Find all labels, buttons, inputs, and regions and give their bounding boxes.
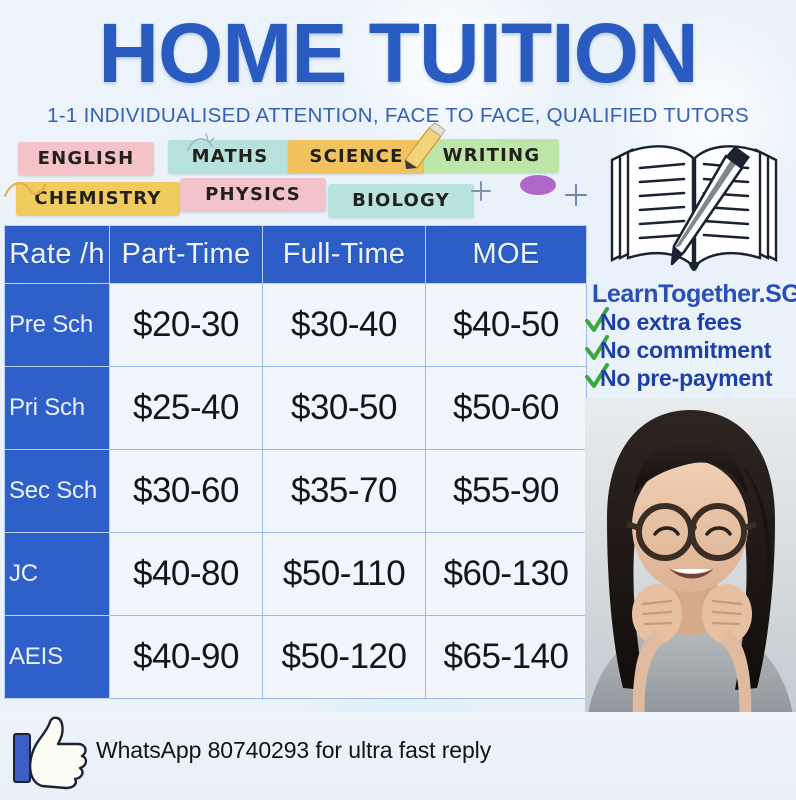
row-label-aeis: AEIS <box>5 616 110 699</box>
row-label-jc: JC <box>5 533 110 616</box>
brand-name: LearnTogether.SG <box>592 280 796 308</box>
poster-canvas: HOME TUITION 1-1 INDIVIDUALISED ATTENTIO… <box>0 0 796 800</box>
row-label-pri-sch: Pri Sch <box>5 367 110 450</box>
cell-part-time: $20-30 <box>110 284 263 367</box>
eraser-doodle-icon <box>517 170 559 200</box>
cell-part-time: $40-80 <box>110 533 263 616</box>
table-body: Pre Sch$20-30$30-40$40-50Pri Sch$25-40$3… <box>5 284 587 699</box>
cell-full-time: $35-70 <box>263 450 426 533</box>
subject-tag: CHEMISTRY <box>16 182 180 216</box>
cell-full-time: $30-40 <box>263 284 426 367</box>
subject-tag: WRITING <box>424 139 559 173</box>
subject-tag: BIOLOGY <box>328 184 474 218</box>
subject-tag: MATHS <box>168 140 292 174</box>
cell-full-time: $50-120 <box>263 616 426 699</box>
table-header-row: Rate /h Part-Time Full-Time MOE <box>5 226 587 284</box>
table-header: Rate /h Part-Time Full-Time MOE <box>5 226 587 284</box>
row-label-pre-sch: Pre Sch <box>5 284 110 367</box>
benefit-item: No commitment <box>600 337 771 364</box>
column-header-part-time: Part-Time <box>110 226 263 284</box>
cell-moe: $40-50 <box>426 284 587 367</box>
cell-moe: $60-130 <box>426 533 587 616</box>
student-photo-illustration <box>585 398 796 720</box>
subject-tag: SCIENCE <box>288 140 425 174</box>
subject-tag: PHYSICS <box>180 178 326 212</box>
page-title: HOME TUITION <box>0 8 796 98</box>
column-header-full-time: Full-Time <box>263 226 426 284</box>
cell-part-time: $40-90 <box>110 616 263 699</box>
row-label-sec-sch: Sec Sch <box>5 450 110 533</box>
subject-tag: ENGLISH <box>18 142 154 176</box>
cell-part-time: $30-60 <box>110 450 263 533</box>
table-row: Pri Sch$25-40$30-50$50-60 <box>5 367 587 450</box>
student-photo <box>585 398 796 720</box>
column-header-rate: Rate /h <box>5 226 110 284</box>
cell-full-time: $30-50 <box>263 367 426 450</box>
plus-doodle-icon <box>560 180 592 210</box>
cell-part-time: $25-40 <box>110 367 263 450</box>
table-row: Pre Sch$20-30$30-40$40-50 <box>5 284 587 367</box>
notebook-pencil-icon <box>596 134 792 282</box>
cell-moe: $65-140 <box>426 616 587 699</box>
cell-full-time: $50-110 <box>263 533 426 616</box>
table-row: AEIS$40-90$50-120$65-140 <box>5 616 587 699</box>
column-header-moe: MOE <box>426 226 587 284</box>
table-row: JC$40-80$50-110$60-130 <box>5 533 587 616</box>
page-subtitle: 1-1 INDIVIDUALISED ATTENTION, FACE TO FA… <box>0 103 796 129</box>
pricing-table: Rate /h Part-Time Full-Time MOE Pre Sch$… <box>4 225 587 699</box>
benefit-item: No extra fees <box>600 309 742 336</box>
cell-moe: $55-90 <box>426 450 587 533</box>
footer-contact-text: WhatsApp 80740293 for ultra fast reply <box>96 735 491 765</box>
table-row: Sec Sch$30-60$35-70$55-90 <box>5 450 587 533</box>
benefit-item: No pre-payment <box>600 365 772 392</box>
thumbs-up-icon <box>12 714 90 790</box>
cell-moe: $50-60 <box>426 367 587 450</box>
